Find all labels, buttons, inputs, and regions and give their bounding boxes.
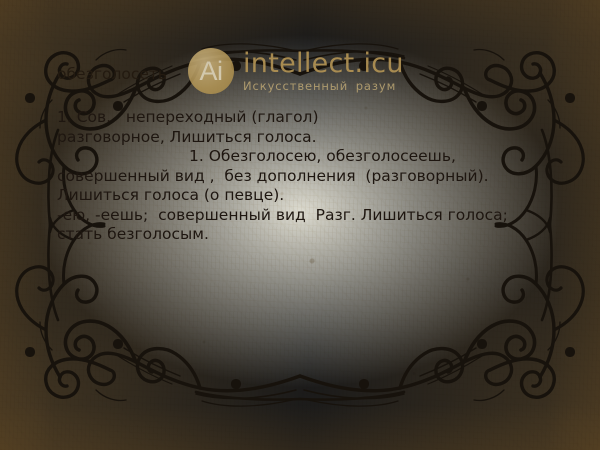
ai-logo-badge: Ai [188,48,234,94]
entry-body: 1. Сов. непереходный (глагол)разговорное… [57,108,557,245]
entry-line: совершенный вид , без дополнения (разгов… [57,167,557,187]
entry-line: разговорное, Лишиться голоса. [57,128,557,148]
watermark: Ai intellect.icu Искусственный разум [188,48,404,94]
watermark-text: intellect.icu Искусственный разум [243,50,404,93]
entry-line: Лишиться голоса (о певце). [57,186,557,206]
headword: обезголосеть [57,65,167,83]
entry-line: 1. Сов. непереходный (глагол) [57,108,557,128]
entry-line: 1. Обезголосею, обезголосеешь, [57,147,557,167]
entry-line: -ею, -еешь; совершенный вид Разг. Лишить… [57,206,557,226]
watermark-title: intellect.icu [243,50,404,77]
watermark-subtitle: Искусственный разум [243,81,404,93]
dictionary-card: Ai intellect.icu Искусственный разум обе… [0,0,600,450]
entry-line: стать безголосым. [57,225,557,245]
